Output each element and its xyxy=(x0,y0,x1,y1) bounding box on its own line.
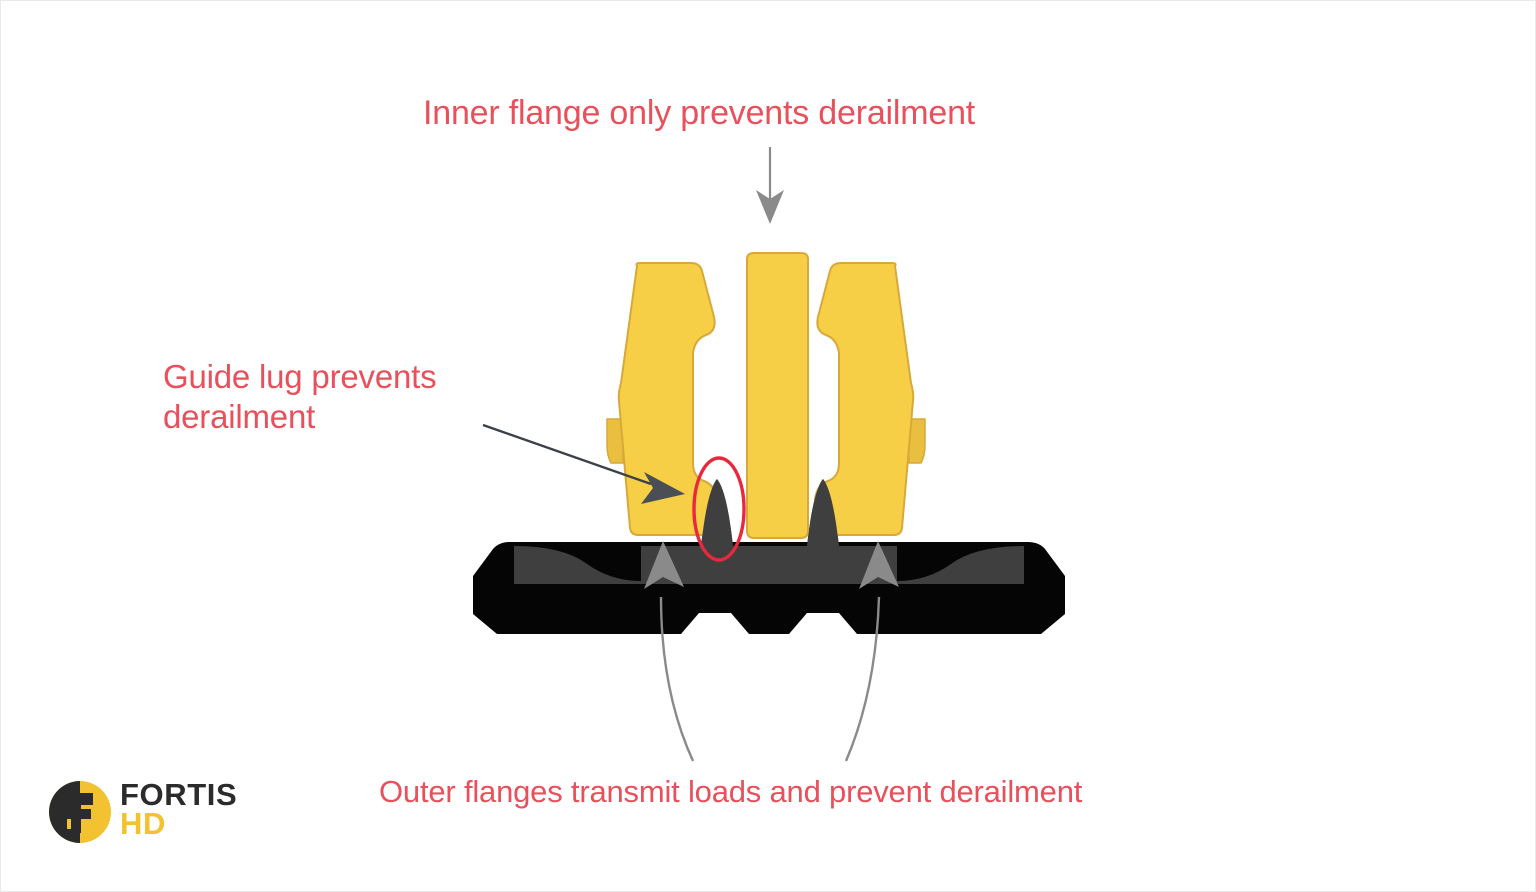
track-roller-cross-section-illustration xyxy=(1,1,1536,892)
label-inner-flange: Inner flange only prevents derailment xyxy=(423,93,975,134)
inner-flange-pointer-arrow xyxy=(756,147,784,224)
label-guide-lug-line2: derailment xyxy=(163,398,315,435)
label-guide-lug-line1: Guide lug prevents xyxy=(163,358,436,395)
label-outer-flanges: Outer flanges transmit loads and prevent… xyxy=(379,773,1082,811)
diagram-canvas: Inner flange only prevents derailment Gu… xyxy=(0,0,1536,892)
inner-flange-center xyxy=(747,253,808,538)
brand-wordmark: FORTIS HD xyxy=(120,781,237,839)
label-guide-lug: Guide lug preventsderailment xyxy=(163,357,436,438)
brand-logo: FORTIS HD xyxy=(45,779,237,841)
brand-name-hd: HD xyxy=(120,810,237,839)
